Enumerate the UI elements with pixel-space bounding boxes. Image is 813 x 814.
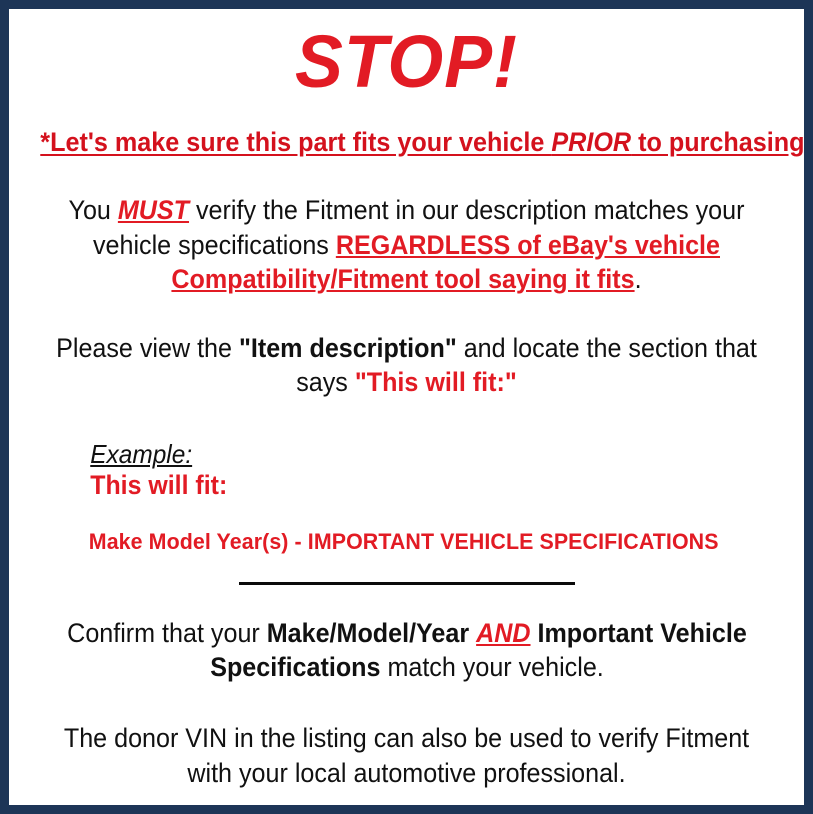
this-will-fit-quote: "This will fit:" [355, 367, 517, 397]
item-description-paragraph: Please view the "Item description" and l… [48, 297, 765, 400]
example-block: Example: This will fit: Make Model Year(… [47, 400, 767, 554]
subtitle-banner: *Let's make sure this part fits your veh… [40, 101, 772, 157]
divider-wrapper [21, 554, 792, 582]
confirm-seg-2: match your vehicle. [380, 652, 603, 682]
subtitle-text-after: to purchasing* [631, 127, 813, 157]
thank-you-message: Thank you for confirming Fitment! [40, 790, 772, 814]
subtitle-emphasis-prior: PRIOR [551, 127, 631, 157]
example-spec-line: Make Model Year(s) - IMPORTANT VEHICLE S… [47, 501, 719, 554]
and-emphasis: AND [476, 618, 530, 648]
stop-headline: STOP! [33, 9, 781, 101]
subtitle-text-before: *Let's make sure this part fits your veh… [40, 127, 551, 157]
notice-content: STOP! *Let's make sure this part fits yo… [9, 9, 804, 805]
must-emphasis: MUST [118, 195, 189, 225]
must-seg-1: You [69, 195, 118, 225]
item-description-label: "Item description" [239, 333, 457, 363]
confirm-seg-1: Confirm that your [67, 618, 267, 648]
example-fit-heading: This will fit: [47, 469, 227, 501]
example-label: Example: [47, 440, 192, 469]
make-model-year-emphasis: Make/Model/Year [266, 618, 468, 648]
fitment-notice-card: STOP! *Let's make sure this part fits yo… [0, 0, 813, 814]
donor-vin-paragraph: The donor VIN in the listing can also be… [48, 685, 765, 790]
must-seg-3: . [635, 264, 642, 294]
must-verify-paragraph: You MUST verify the Fitment in our descr… [48, 157, 765, 297]
desc-seg-1: Please view the [56, 333, 239, 363]
confirm-paragraph: Confirm that your Make/Model/Year AND Im… [48, 582, 764, 685]
